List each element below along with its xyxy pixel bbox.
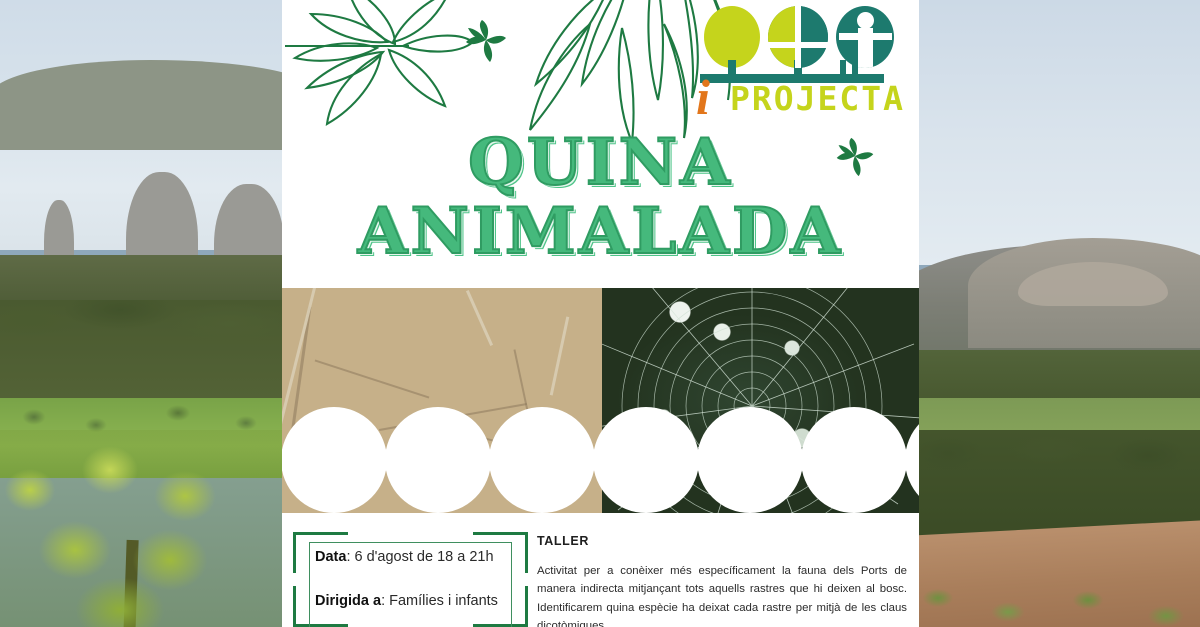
detail-sep-audience: : <box>381 593 389 609</box>
poster-card: i PROJECTA QUINA ANIMALADA <box>282 0 919 627</box>
details-rows: Data: 6 d'agost de 18 a 21h Dirigida a: … <box>315 548 515 627</box>
description-block: TALLER Activitat per a conèixer més espe… <box>537 534 907 627</box>
sky-right <box>908 0 1200 265</box>
peak-main <box>126 172 198 268</box>
description-body: Activitat per a conèixer més específicam… <box>537 562 907 627</box>
logo-wordmark: i PROJECTA <box>694 60 894 114</box>
poster-stage: i PROJECTA QUINA ANIMALADA <box>0 0 1200 627</box>
title-line-2: ANIMALADA <box>282 201 919 264</box>
logo-letter-i: i <box>696 72 710 122</box>
background-photo-right <box>908 0 1200 627</box>
background-photo-left <box>0 0 292 627</box>
tree-cross-horizontal <box>768 42 828 48</box>
foreground-tree-left <box>0 430 292 627</box>
photo-strip <box>282 288 919 513</box>
detail-label-data: Data <box>315 549 346 565</box>
logo-text-projecta: PROJECTA <box>730 82 905 115</box>
details-frame: Data: 6 d'agost de 18 a 21h Dirigida a: … <box>293 532 528 627</box>
person-icon <box>836 6 894 68</box>
detail-label-audience: Dirigida a <box>315 593 381 609</box>
tree-solid-icon <box>704 6 760 68</box>
info-section: Data: 6 d'agost de 18 a 21h Dirigida a: … <box>282 520 919 627</box>
ridge-left <box>0 60 292 150</box>
detail-row-audience: Dirigida a: Famílies i infants <box>315 592 515 610</box>
frame-inner-line-top <box>309 542 512 543</box>
detail-row-data: Data: 6 d'agost de 18 a 21h <box>315 548 515 566</box>
detail-value-audience: Famílies i infants <box>389 593 498 609</box>
peak-small <box>44 200 74 260</box>
detail-value-data: 6 d'agost de 18 a 21h <box>355 549 494 565</box>
iprojecta-logo: i PROJECTA <box>690 2 890 114</box>
description-heading: TALLER <box>537 534 907 548</box>
tree-cross-vertical <box>795 6 801 68</box>
title-line-1: QUINA <box>282 132 919 195</box>
leaf-sprig-icon <box>462 18 510 64</box>
scalloped-edge <box>282 453 919 513</box>
frame-inner-line-left <box>309 542 310 627</box>
detail-sep-data: : <box>346 549 354 565</box>
vineyard-right <box>908 560 1200 627</box>
page-title: QUINA ANIMALADA <box>282 132 919 263</box>
